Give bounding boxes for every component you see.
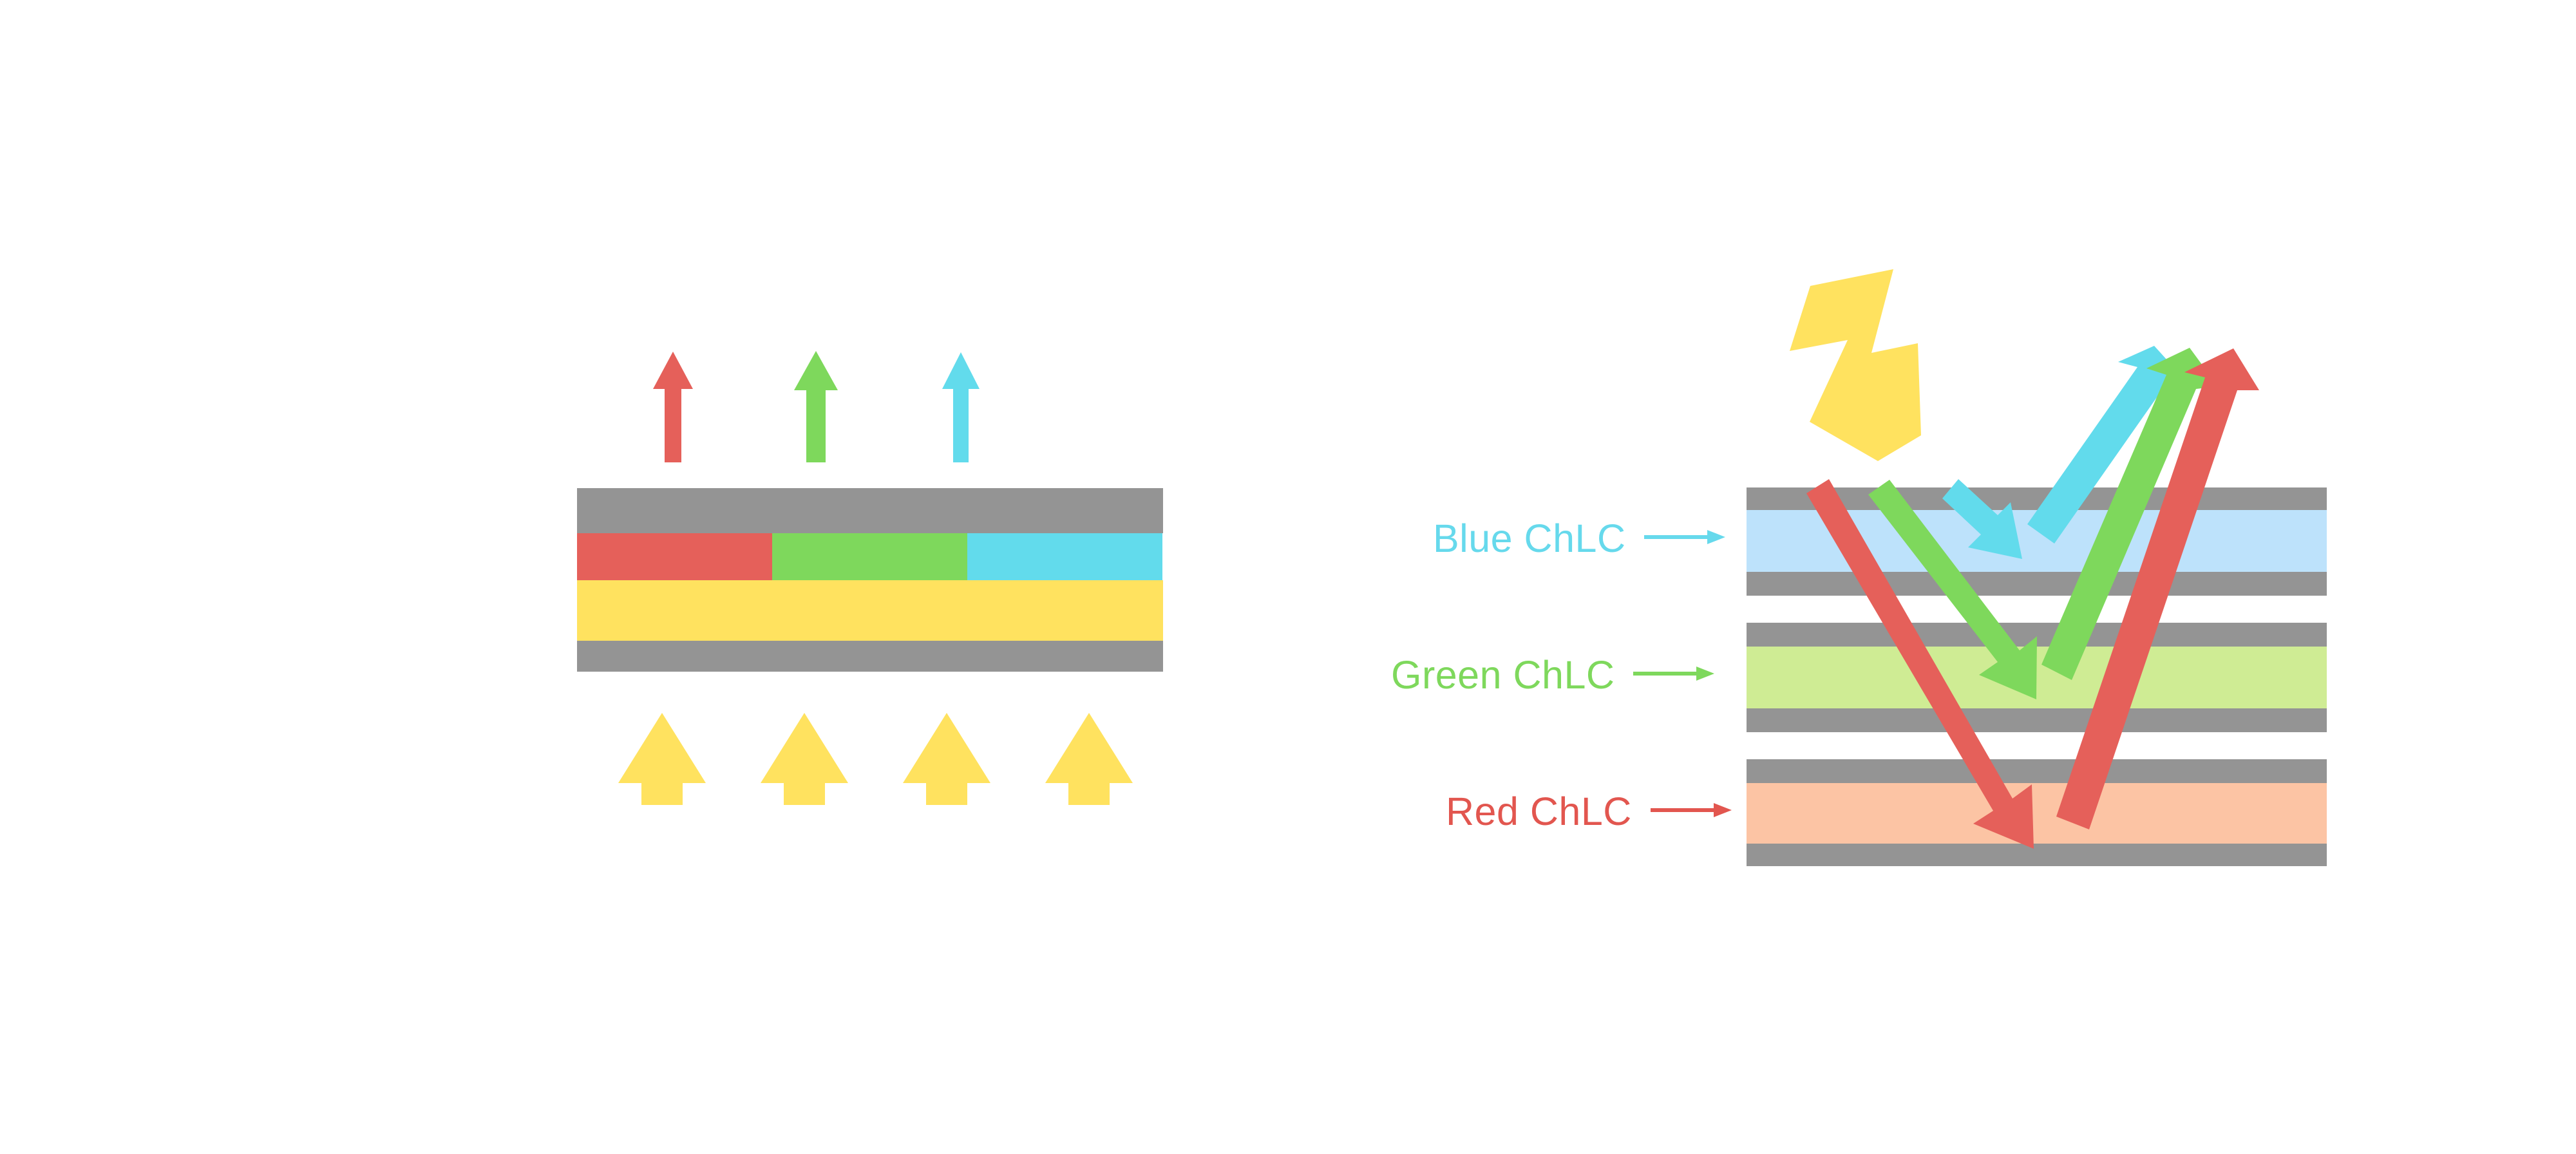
arrow-right-icon	[1643, 524, 1727, 550]
label-red-chlc: Red ChLC	[1446, 792, 1733, 831]
right-panel-rays	[0, 0, 2576, 1154]
label-red-chlc-arrow-icon	[1649, 797, 1733, 826]
label-green-chlc-text: Green ChLC	[1391, 656, 1615, 695]
incident-white-light-arrow	[1790, 269, 1921, 461]
label-green-chlc-arrow-icon	[1632, 661, 1716, 690]
label-blue-chlc-text: Blue ChLC	[1433, 519, 1626, 558]
diagram-stage: Blue ChLC Green ChLC Red ChLC	[0, 0, 2576, 1154]
label-red-chlc-text: Red ChLC	[1446, 792, 1632, 831]
label-green-chlc: Green ChLC	[1391, 656, 1716, 695]
label-blue-chlc: Blue ChLC	[1433, 519, 1727, 558]
blue-ray-in	[1942, 479, 2022, 559]
arrow-right-icon	[1632, 661, 1716, 686]
arrow-right-icon	[1649, 797, 1733, 823]
label-blue-chlc-arrow-icon	[1643, 524, 1727, 553]
